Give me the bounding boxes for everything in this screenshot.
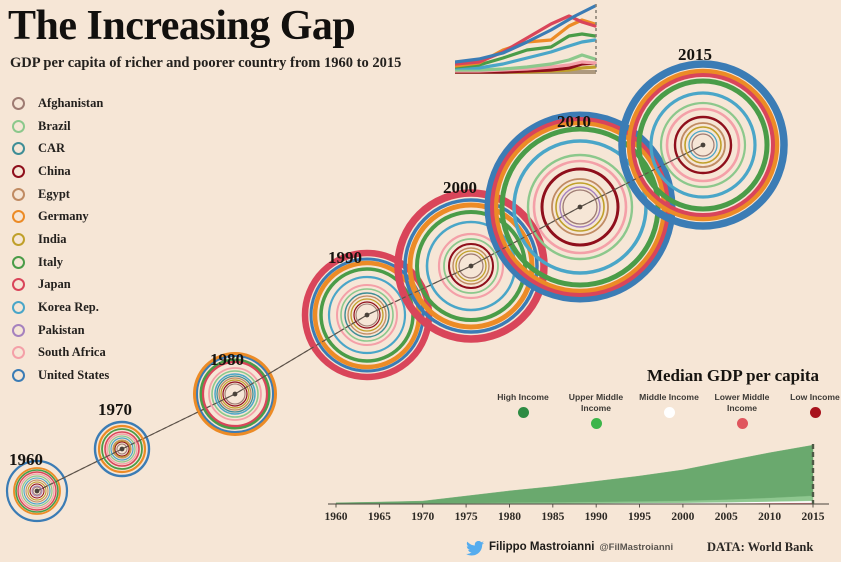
area-chart-xtick: 2000 <box>671 511 694 523</box>
cluster-year-label-1990: 1990 <box>328 248 362 268</box>
cluster-center-dot <box>365 313 370 318</box>
cluster-center-dot <box>35 489 40 494</box>
data-source: DATA: World Bank <box>707 540 813 555</box>
income-level-dot-icon <box>737 418 748 429</box>
median-gdp-area-chart: 1960196519701975198019851990199520002005… <box>300 440 835 532</box>
area-chart-xtick: 2010 <box>758 511 781 523</box>
income-level-dot-icon <box>518 407 529 418</box>
cluster-year-label-1980: 1980 <box>210 350 244 370</box>
cluster-year-label-1970: 1970 <box>98 400 132 420</box>
area-chart-xtick: 1995 <box>628 511 651 523</box>
cluster-center-dot <box>120 447 125 452</box>
twitter-bird-icon <box>466 541 484 556</box>
income-level-dot-icon <box>664 407 675 418</box>
cluster-center-dot <box>233 392 238 397</box>
area-chart-xtick: 2005 <box>715 511 738 523</box>
author-name: Filippo Mastroianni <box>489 541 594 553</box>
income-level-dot-icon <box>591 418 602 429</box>
area-chart-xtick: 1990 <box>585 511 608 523</box>
cluster-year-label-2015: 2015 <box>678 45 712 65</box>
author-credit: Filippo Mastroianni @FilMastroianni <box>489 541 673 553</box>
area-chart-xtick: 1985 <box>541 511 564 523</box>
income-level-low-income[interactable]: Low Income <box>772 392 841 418</box>
infographic-canvas: The Increasing Gap GDP per capita of ric… <box>0 0 841 562</box>
cluster-year-label-2000: 2000 <box>443 178 477 198</box>
area-chart-xtick: 1960 <box>325 511 348 523</box>
cluster-year-label-2010: 2010 <box>557 112 591 132</box>
income-level-dot-icon <box>810 407 821 418</box>
area-chart-xtick: 1965 <box>368 511 391 523</box>
income-level-label: Low Income <box>772 392 841 403</box>
area-chart-xtick: 1975 <box>455 511 478 523</box>
cluster-year-label-1960: 1960 <box>9 450 43 470</box>
cluster-center-dot <box>701 143 706 148</box>
income-level-legend: High IncomeUpper Middle IncomeMiddle Inc… <box>480 392 830 442</box>
area-band <box>336 445 813 503</box>
median-panel-title: Median GDP per capita <box>647 366 819 386</box>
area-chart-xtick: 1970 <box>411 511 434 523</box>
author-handle: @FilMastroianni <box>599 542 673 553</box>
cluster-center-dot <box>578 205 583 210</box>
cluster-center-dot <box>469 264 474 269</box>
area-chart-xtick: 1980 <box>498 511 521 523</box>
area-chart-xtick: 2015 <box>802 511 825 523</box>
